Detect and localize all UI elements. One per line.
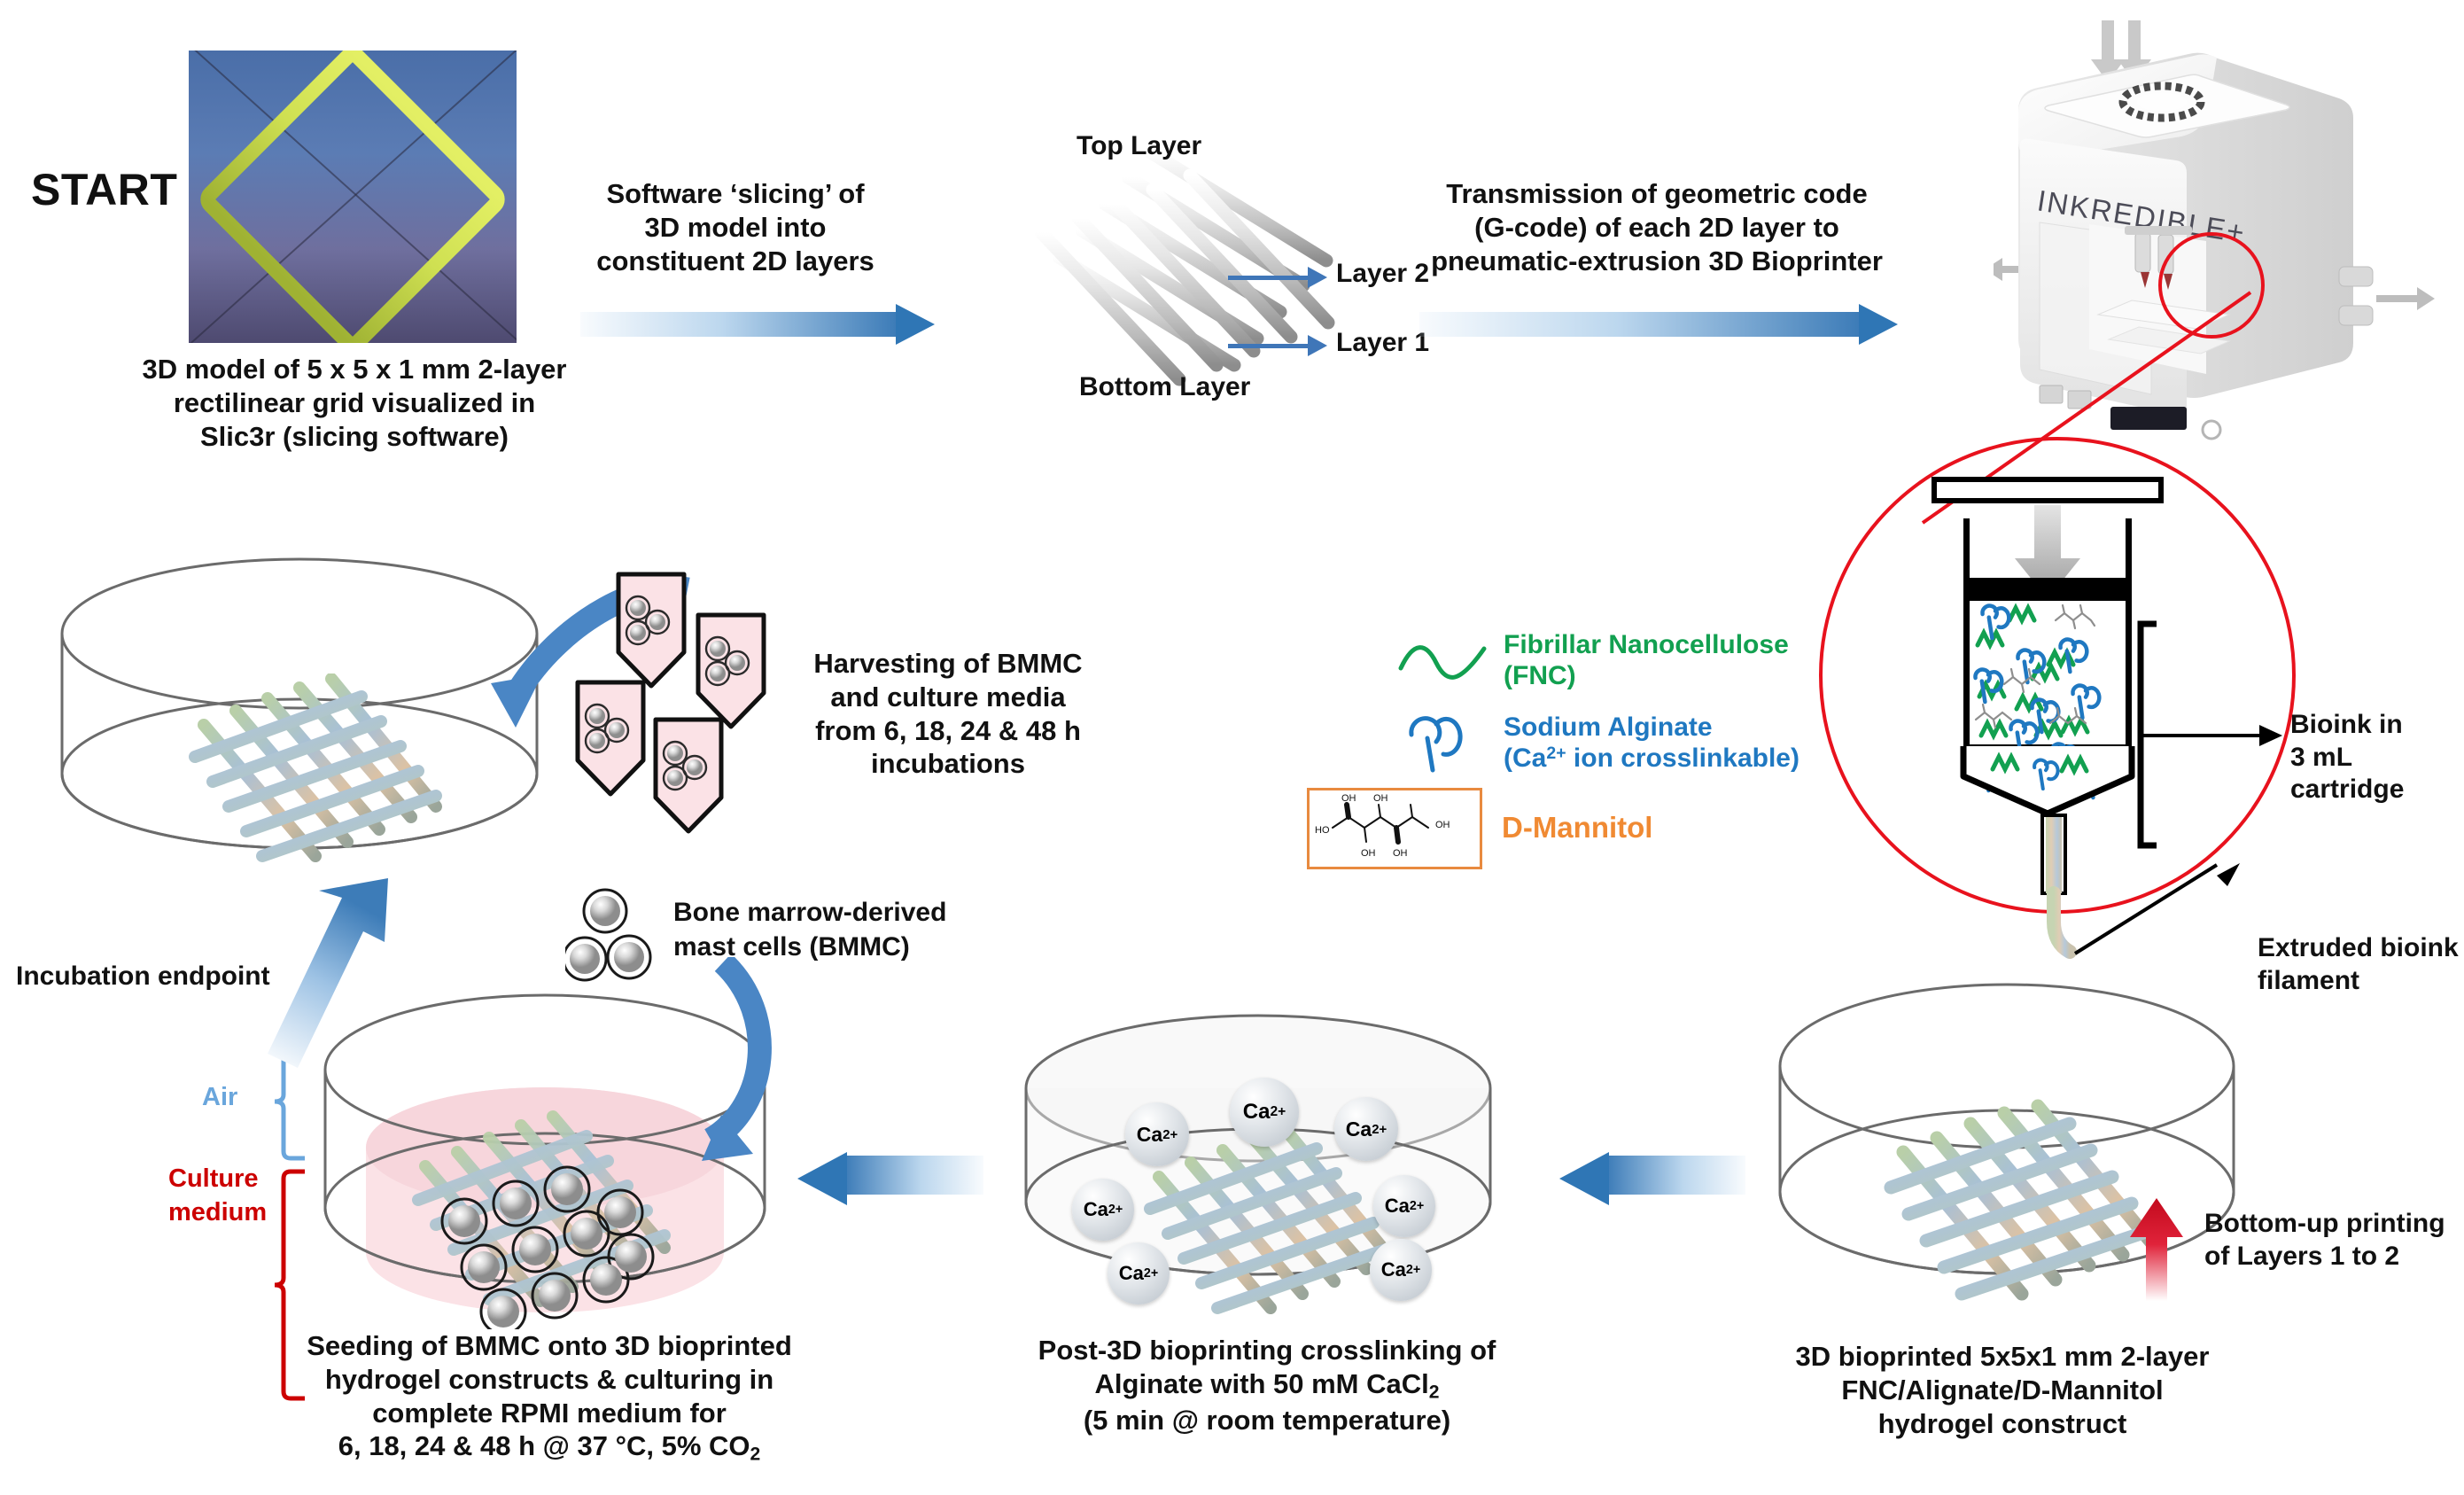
svg-text:OH: OH xyxy=(1361,848,1376,859)
calcium-ion-sphere: Ca2+ xyxy=(1373,1175,1435,1237)
svg-text:OH: OH xyxy=(1435,820,1450,830)
legend-label-mannitol: D-Mannitol xyxy=(1502,811,1652,845)
printed-construct-caption: 3D bioprinted 5x5x1 mm 2-layer FNC/Align… xyxy=(1763,1340,2242,1440)
wave-icon xyxy=(1395,636,1493,689)
seeding-caption: Seeding of BMMC onto 3D bioprinted hydro… xyxy=(266,1329,833,1466)
incubation-endpoint-label: Incubation endpoint xyxy=(16,962,270,992)
harvest-caption: Harvesting of BMMC and culture media fro… xyxy=(789,647,1108,781)
calcium-ion-group: Ca2+ Ca2+ Ca2+ Ca2+ Ca2+ Ca2+ Ca2+ xyxy=(1019,1010,1497,1329)
layer1-label: Layer 1 xyxy=(1336,328,1429,358)
culture-medium-label: Culture medium xyxy=(168,1163,257,1229)
extruded-filament-label: Extruded bioink filament xyxy=(2258,932,2459,997)
calcium-ion-sphere: Ca2+ xyxy=(1230,1078,1299,1147)
legend-item-fnc: Fibrillar Nanocellulose (FNC) xyxy=(1395,629,1799,692)
gcode-arrow xyxy=(1419,304,1898,345)
slicing-arrow xyxy=(580,304,935,345)
slicing-arrow-label: Software ‘slicing’ of 3D model into cons… xyxy=(585,177,886,277)
svg-text:OH: OH xyxy=(1373,793,1388,804)
printer-head-highlight-circle xyxy=(2158,232,2265,339)
start-label: START xyxy=(31,164,177,215)
bioink-components-legend: Fibrillar Nanocellulose (FNC) Sodium Alg… xyxy=(1395,629,1799,882)
calcium-ion-sphere: Ca2+ xyxy=(1072,1179,1134,1241)
cartridge-plunger xyxy=(1963,578,2132,601)
calcium-ion-sphere: Ca2+ xyxy=(1125,1102,1189,1166)
layer2-label: Layer 2 xyxy=(1336,259,1429,289)
mannitol-structure-icon: HO OH OH OH OH OH xyxy=(1307,788,1482,869)
bottom-up-printing-label: Bottom-up printing of Layers 1 to 2 xyxy=(2204,1207,2445,1273)
slic3r-caption: 3D model of 5 x 5 x 1 mm 2-layer rectili… xyxy=(106,353,602,453)
alginate-icon xyxy=(1395,712,1493,775)
air-label: Air xyxy=(202,1083,237,1112)
legend-label-alginate: Sodium Alginate (Ca2+ ion crosslinkable) xyxy=(1504,712,1799,775)
bmmc-label: Bone marrow-derived mast cells (BMMC) xyxy=(673,895,946,964)
gcode-arrow-label: Transmission of geometric code (G-code) … xyxy=(1418,177,1896,277)
calcium-ion-sphere: Ca2+ xyxy=(1334,1097,1398,1161)
layer2-arrow xyxy=(1228,273,1327,282)
crosslink-transfer-arrow xyxy=(1559,1152,1745,1205)
cell-seeding-curved-arrow xyxy=(629,957,806,1196)
top-layer-label: Top Layer xyxy=(1077,131,1201,161)
svg-text:OH: OH xyxy=(1341,793,1356,804)
legend-label-fnc: Fibrillar Nanocellulose (FNC) xyxy=(1504,629,1789,692)
crosslinking-caption: Post-3D bioprinting crosslinking of Algi… xyxy=(1001,1334,1533,1437)
legend-item-alginate: Sodium Alginate (Ca2+ ion crosslinkable) xyxy=(1395,712,1799,775)
legend-item-mannitol: HO OH OH OH OH OH D-Mannitol xyxy=(1395,788,1799,869)
bottom-layer-label: Bottom Layer xyxy=(1079,372,1250,402)
bottom-up-printing-arrow xyxy=(2126,1187,2197,1303)
calcium-ion-sphere: Ca2+ xyxy=(1370,1239,1432,1301)
svg-text:OH: OH xyxy=(1393,848,1408,859)
layer1-arrow xyxy=(1228,341,1327,350)
slic3r-model-thumbnail xyxy=(189,51,517,343)
svg-text:HO: HO xyxy=(1315,825,1330,836)
seeding-transfer-arrow xyxy=(797,1152,983,1205)
cartridge-cap xyxy=(1932,477,2164,503)
bioink-cartridge-label: Bioink in 3 mL cartridge xyxy=(2290,709,2464,806)
calcium-ion-sphere: Ca2+ xyxy=(1108,1242,1170,1304)
printed-hydrogel-lattice xyxy=(1869,1099,2162,1320)
harvest-hydrogel-lattice xyxy=(177,674,443,877)
